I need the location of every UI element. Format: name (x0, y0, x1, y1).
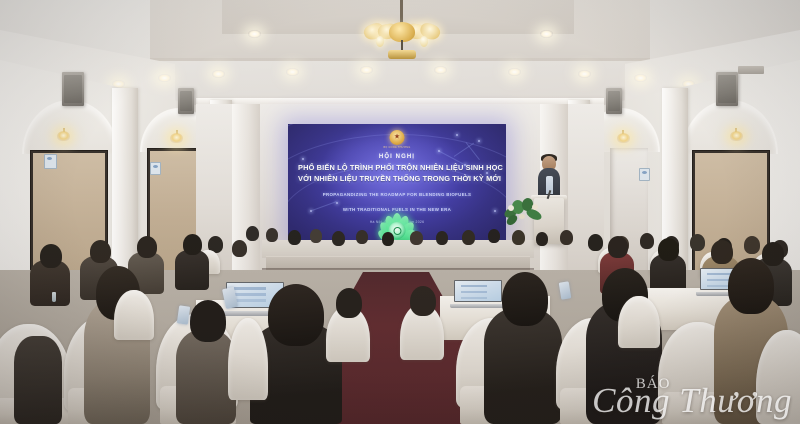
screen-kicker: HỘI NGHỊ (298, 154, 496, 160)
recessed-downlight (212, 70, 225, 78)
water-bottle (52, 292, 56, 302)
screen-title-line2: VỚI NHIÊN LIỆU TRUYỀN THỐNG TRONG THỜI K… (298, 174, 496, 185)
seated-attendee (288, 230, 301, 245)
seated-attendee (356, 230, 368, 244)
attendee-torso (175, 250, 209, 290)
seated-attendee (137, 236, 157, 258)
open-laptop[interactable] (454, 280, 500, 308)
wall-sconce (57, 131, 70, 141)
seated-attendee (410, 231, 423, 245)
presentation-screen: ★ BỘ CÔNG THƯƠNG HỘI NGHỊ PHỔ BIẾN LỘ TR… (288, 124, 506, 242)
conference-hall-photo: ★ BỘ CÔNG THƯƠNG HỘI NGHỊ PHỔ BIẾN LỘ TR… (0, 0, 800, 424)
seated-attendee (640, 233, 654, 249)
attendee-torso (176, 330, 236, 424)
emblem-caption: BỘ CÔNG THƯƠNG (384, 146, 411, 149)
wall-sconce (730, 131, 743, 141)
wall-notice-sign (639, 168, 650, 181)
flower-arrangement (504, 196, 544, 228)
seated-attendee (560, 230, 573, 245)
seated-attendee (232, 240, 247, 257)
recessed-downlight (578, 70, 591, 78)
seated-attendee (266, 228, 278, 242)
seated-attendee (246, 226, 259, 241)
seated-attendee (332, 231, 345, 246)
seated-attendee (382, 232, 394, 246)
network-node (438, 150, 440, 152)
flower-bloom (508, 205, 514, 211)
recessed-downlight (540, 30, 553, 38)
network-node (478, 140, 480, 142)
seated-attendee (536, 232, 548, 246)
seated-attendee (90, 240, 111, 263)
screen-subtitle-line1: PROPAGANDIZING THE ROADMAP FOR BLENDING … (298, 191, 496, 198)
seated-attendee (268, 284, 324, 346)
wall-notice-sign (44, 154, 57, 169)
covered-banquet-chair (618, 296, 660, 348)
laptop-base (450, 304, 503, 308)
seated-attendee (588, 234, 603, 251)
recessed-downlight (158, 74, 171, 82)
wall-sconce (170, 133, 183, 143)
national-emblem-icon: ★ (390, 130, 405, 145)
wall-speaker (716, 72, 738, 106)
seated-attendee (711, 240, 733, 264)
seated-attendee (183, 234, 202, 255)
gold-chandelier (356, 0, 448, 66)
seated-attendee (336, 288, 362, 318)
seated-attendee (608, 236, 628, 258)
recessed-downlight (434, 66, 447, 74)
wall-speaker (606, 88, 622, 114)
flower-bloom (532, 204, 538, 210)
seated-attendee (728, 258, 774, 314)
seated-attendee (488, 229, 500, 243)
wall-speaker (62, 72, 84, 106)
recessed-downlight (634, 74, 647, 82)
seated-attendee (436, 231, 448, 245)
seated-attendee (410, 286, 436, 316)
seated-attendee (40, 244, 62, 268)
seated-attendee (310, 229, 322, 243)
chandelier-hub (389, 22, 415, 42)
screen-title-line1: PHỔ BIẾN LỘ TRÌNH PHỐI TRỘN NHIÊN LIỆU S… (298, 163, 496, 174)
emblem-star-icon: ★ (394, 133, 400, 140)
recessed-downlight (248, 30, 261, 38)
recessed-downlight (360, 66, 373, 74)
chandelier-drop (376, 36, 384, 47)
chandelier-base (388, 50, 416, 59)
wall-sconce (617, 133, 630, 143)
seated-attendee (744, 236, 760, 254)
covered-banquet-chair (114, 290, 154, 340)
attendee-torso (14, 336, 62, 424)
seated-attendee (502, 272, 548, 326)
seated-attendee (512, 230, 525, 245)
laptop-screen (454, 280, 502, 302)
flower-bloom (519, 214, 525, 219)
recessed-downlight (508, 68, 521, 76)
chandelier-drop (420, 36, 428, 47)
seated-attendee (190, 300, 226, 342)
seated-attendee (690, 234, 705, 251)
recessed-downlight (286, 68, 299, 76)
network-node (456, 134, 458, 136)
seated-attendee (462, 230, 475, 245)
wall-speaker (178, 88, 194, 114)
air-vent (738, 66, 764, 74)
seated-attendee (658, 238, 679, 261)
wall-notice-sign (150, 162, 161, 175)
seated-attendee (762, 242, 784, 266)
